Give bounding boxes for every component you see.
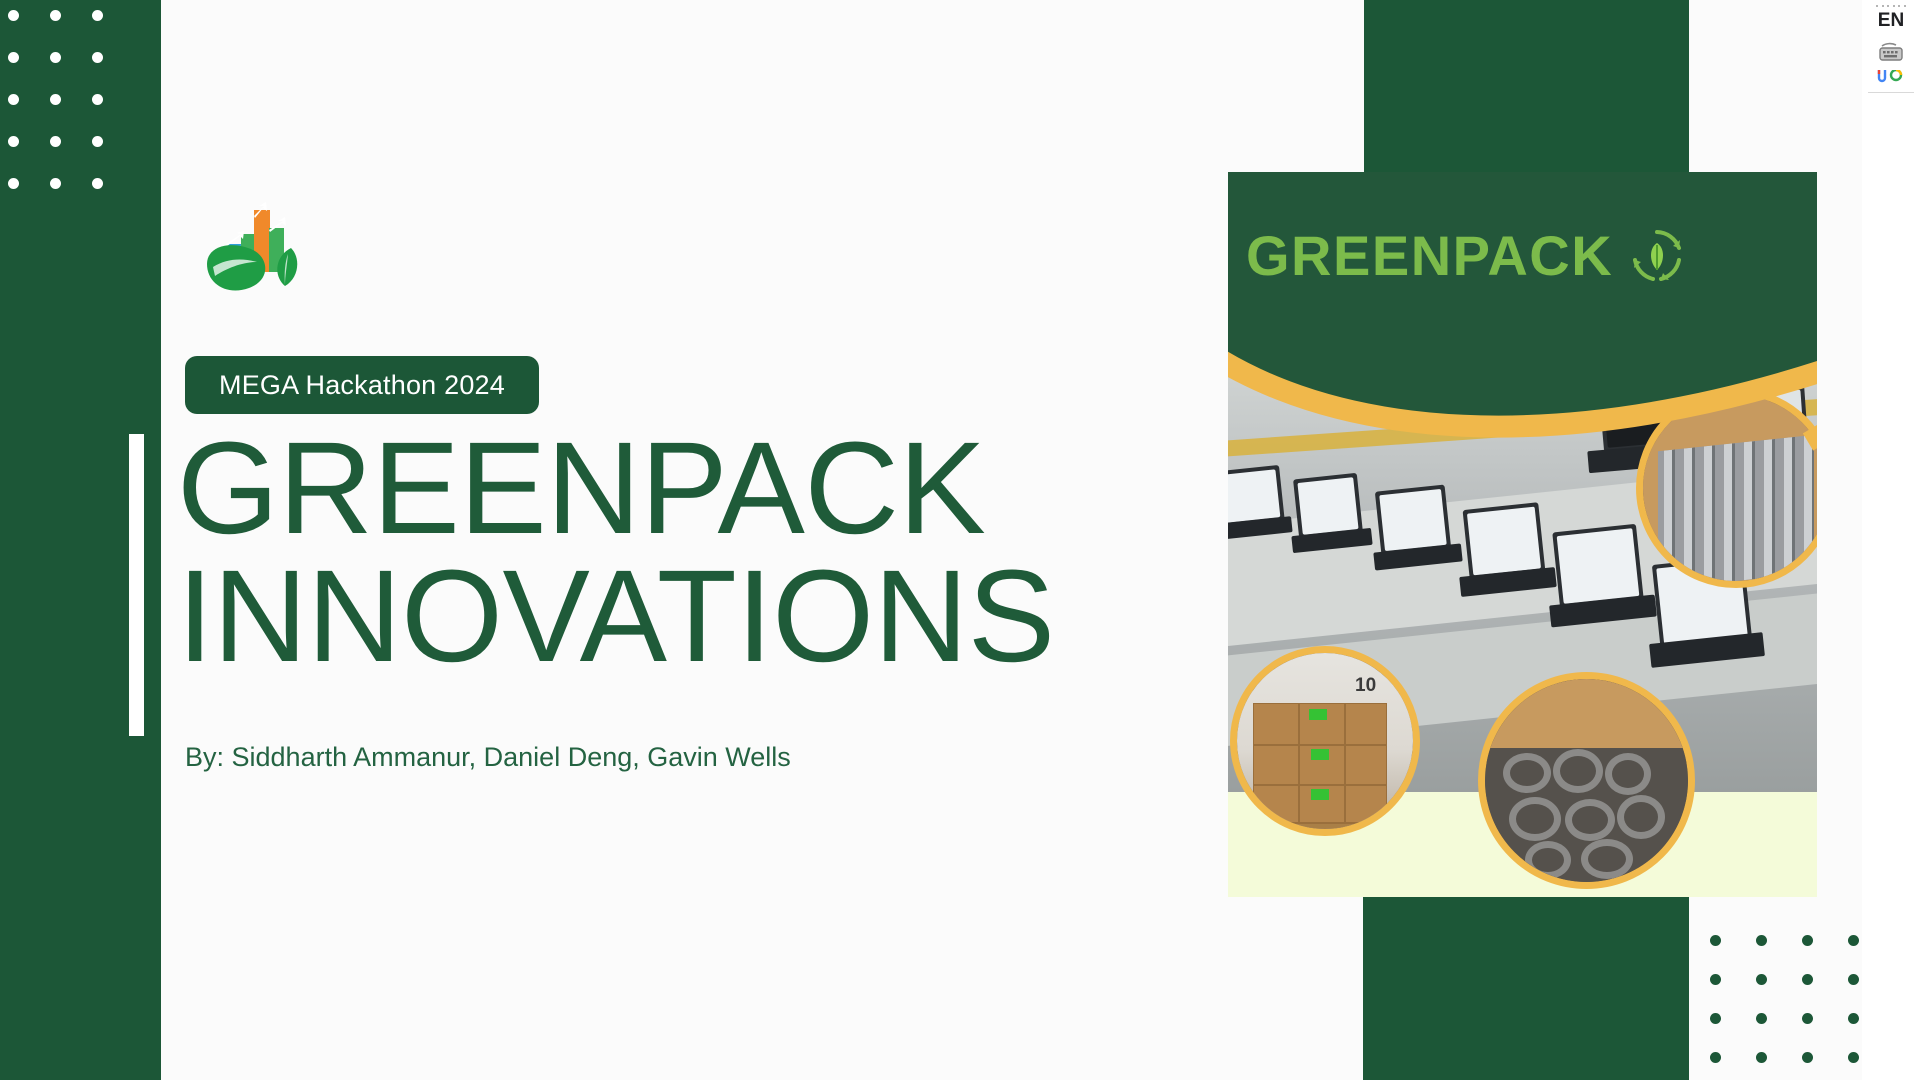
- decor-dot: [1756, 1052, 1767, 1063]
- cables-in-box-photo: [1478, 672, 1695, 889]
- decor-block-top: [1364, 0, 1689, 185]
- decor-dot: [1710, 1052, 1721, 1063]
- decor-dot: [1802, 974, 1813, 985]
- title-accent-bar: [129, 434, 144, 736]
- decor-dot: [8, 10, 19, 21]
- author-byline: By: Siddharth Ammanur, Daniel Deng, Gavi…: [185, 742, 791, 773]
- decor-dot: [1802, 1013, 1813, 1024]
- decor-dot: [1802, 935, 1813, 946]
- pallet-number-label: 10: [1355, 675, 1376, 697]
- decor-dot: [8, 136, 19, 147]
- language-indicator[interactable]: EN: [1862, 10, 1920, 32]
- page-title-line-2: INNOVATIONS: [177, 552, 1277, 680]
- decor-dot: [50, 10, 61, 21]
- toolbar-divider: [1868, 92, 1914, 93]
- decor-dot: [1756, 974, 1767, 985]
- decor-dot: [50, 52, 61, 63]
- decor-dot: [50, 178, 61, 189]
- decor-dot: [1710, 974, 1721, 985]
- decor-dot: [1710, 1013, 1721, 1024]
- greenpack-logo: [197, 188, 307, 300]
- poster-brand: GREENPACK: [1246, 226, 1687, 286]
- decor-dot: [8, 178, 19, 189]
- page-title: GREENPACK INNOVATIONS: [177, 424, 1277, 681]
- decor-dot: [92, 10, 103, 21]
- event-badge-label: MEGA Hackathon 2024: [219, 370, 505, 401]
- decor-dot: [1848, 935, 1859, 946]
- decor-dot: [92, 136, 103, 147]
- slide-canvas: MEGA Hackathon 2024 GREENPACK INNOVATION…: [0, 0, 1920, 1080]
- decor-dot: [1802, 1052, 1813, 1063]
- decor-dot: [1848, 974, 1859, 985]
- decor-dot: [92, 94, 103, 105]
- yellow-swoosh-decor: [1228, 292, 1817, 532]
- decor-dot: [1848, 1052, 1859, 1063]
- page-title-line-1: GREENPACK: [177, 424, 1277, 552]
- poster-brand-label: GREENPACK: [1246, 228, 1613, 284]
- decor-block-bottom: [1363, 896, 1689, 1080]
- decor-dot: [50, 94, 61, 105]
- decor-dot: [1848, 1013, 1859, 1024]
- poster-card: GREENPACK A Sustainable Packaging Soluti…: [1228, 172, 1817, 897]
- recycle-leaf-icon: [1627, 226, 1687, 286]
- decor-dot: [1710, 935, 1721, 946]
- event-badge: MEGA Hackathon 2024: [185, 356, 539, 414]
- decor-dot: [8, 94, 19, 105]
- decor-dot: [8, 52, 19, 63]
- decor-dot: [92, 52, 103, 63]
- decor-dot: [50, 136, 61, 147]
- decor-dot: [1756, 935, 1767, 946]
- ime-color-icon[interactable]: [1876, 70, 1906, 84]
- boxes-on-pallet-photo: 10: [1230, 646, 1420, 836]
- left-dot-pattern: [8, 10, 128, 210]
- ime-toolbar[interactable]: EN: [1862, 0, 1920, 1080]
- decor-dot: [1756, 1013, 1767, 1024]
- keyboard-icon[interactable]: [1878, 42, 1904, 62]
- decor-dot: [92, 178, 103, 189]
